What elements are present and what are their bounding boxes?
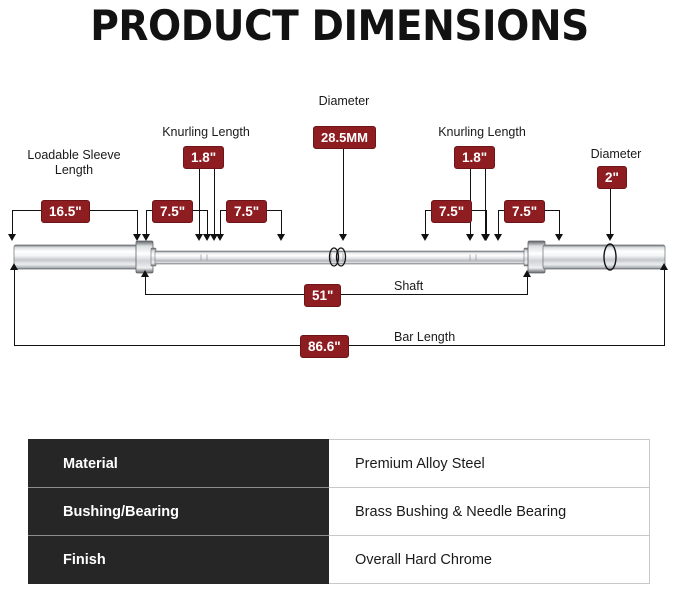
arrowhead-loadable-left bbox=[8, 234, 16, 241]
dimtick-knurl-left-inner-a bbox=[220, 210, 221, 237]
product-dimensions-diagram: Loadable Sleeve Length Knurling Length D… bbox=[0, 0, 679, 430]
badge-knurl-left-gap: 1.8" bbox=[183, 146, 224, 169]
arrowhead-shaft-diameter bbox=[339, 234, 347, 241]
specification-table: Material Premium Alloy Steel Bushing/Bea… bbox=[28, 439, 650, 584]
dimtick-knurl-left-gap-a bbox=[199, 166, 200, 237]
leader-sleeve-diameter bbox=[610, 188, 611, 236]
spec-key-material: Material bbox=[29, 440, 329, 488]
arrowhead-shaft-right bbox=[523, 270, 531, 277]
arrowhead-sleeve-diameter bbox=[606, 234, 614, 241]
dimtick-knurl-right-gap-b bbox=[485, 166, 486, 237]
dimtick-knurl-left-outer-a bbox=[146, 210, 147, 237]
dimtick-knurl-right-outer-b bbox=[559, 210, 560, 237]
arrowhead-knurl-right-inner-a bbox=[421, 234, 429, 241]
badge-knurl-right-outer: 7.5" bbox=[504, 200, 545, 223]
arrowhead-knurl-left-gap-a bbox=[195, 234, 203, 241]
spec-value-finish: Overall Hard Chrome bbox=[329, 536, 650, 584]
table-row: Finish Overall Hard Chrome bbox=[29, 536, 650, 584]
barbell-illustration bbox=[0, 0, 679, 430]
arrowhead-bar-left bbox=[10, 263, 18, 270]
arrowhead-shaft-left bbox=[141, 270, 149, 277]
dimtick-knurl-left-inner-b bbox=[281, 210, 282, 237]
dimtick-bar-left bbox=[14, 268, 15, 346]
badge-knurl-right-gap: 1.8" bbox=[454, 146, 495, 169]
badge-knurl-left-outer: 7.5" bbox=[152, 200, 193, 223]
spec-value-material: Premium Alloy Steel bbox=[329, 440, 650, 488]
dimtick-knurl-right-outer-a bbox=[498, 210, 499, 237]
dimtick-knurl-right-inner-b bbox=[486, 210, 487, 237]
spec-key-finish: Finish bbox=[29, 536, 329, 584]
dimtick-knurl-right-inner-a bbox=[425, 210, 426, 237]
badge-loadable-sleeve: 16.5" bbox=[41, 200, 90, 223]
spec-value-bushing-bearing: Brass Bushing & Needle Bearing bbox=[329, 488, 650, 536]
dimtick-loadable-right bbox=[137, 210, 138, 237]
arrowhead-knurl-left-inner-a bbox=[216, 234, 224, 241]
dimtick-knurl-left-outer-b bbox=[207, 210, 208, 237]
badge-shaft-diameter: 28.5MM bbox=[313, 126, 376, 149]
arrowhead-knurl-left-outer-a bbox=[142, 234, 150, 241]
badge-sleeve-diameter: 2" bbox=[597, 166, 627, 189]
badge-knurl-left-inner: 7.5" bbox=[226, 200, 267, 223]
badge-knurl-right-inner: 7.5" bbox=[431, 200, 472, 223]
dimtick-shaft-right bbox=[527, 275, 528, 295]
dimtick-shaft-left bbox=[145, 275, 146, 295]
table-row: Bushing/Bearing Brass Bushing & Needle B… bbox=[29, 488, 650, 536]
table-row: Material Premium Alloy Steel bbox=[29, 440, 650, 488]
leader-shaft-diameter bbox=[343, 148, 344, 236]
arrowhead-knurl-left-inner-b bbox=[277, 234, 285, 241]
arrowhead-knurl-right-outer-a bbox=[494, 234, 502, 241]
dimtick-loadable-left bbox=[12, 210, 13, 237]
arrowhead-knurl-right-gap-a bbox=[466, 234, 474, 241]
dimtick-knurl-left-gap-b bbox=[214, 166, 215, 237]
dimtick-bar-right bbox=[664, 268, 665, 346]
arrowhead-bar-right bbox=[660, 263, 668, 270]
arrowhead-loadable-right bbox=[133, 234, 141, 241]
arrowhead-knurl-right-gap-b bbox=[481, 234, 489, 241]
badge-shaft-length: 51" bbox=[304, 284, 341, 307]
spec-key-bushing-bearing: Bushing/Bearing bbox=[29, 488, 329, 536]
arrowhead-knurl-right-outer-b bbox=[555, 234, 563, 241]
badge-bar-length: 86.6" bbox=[300, 335, 349, 358]
